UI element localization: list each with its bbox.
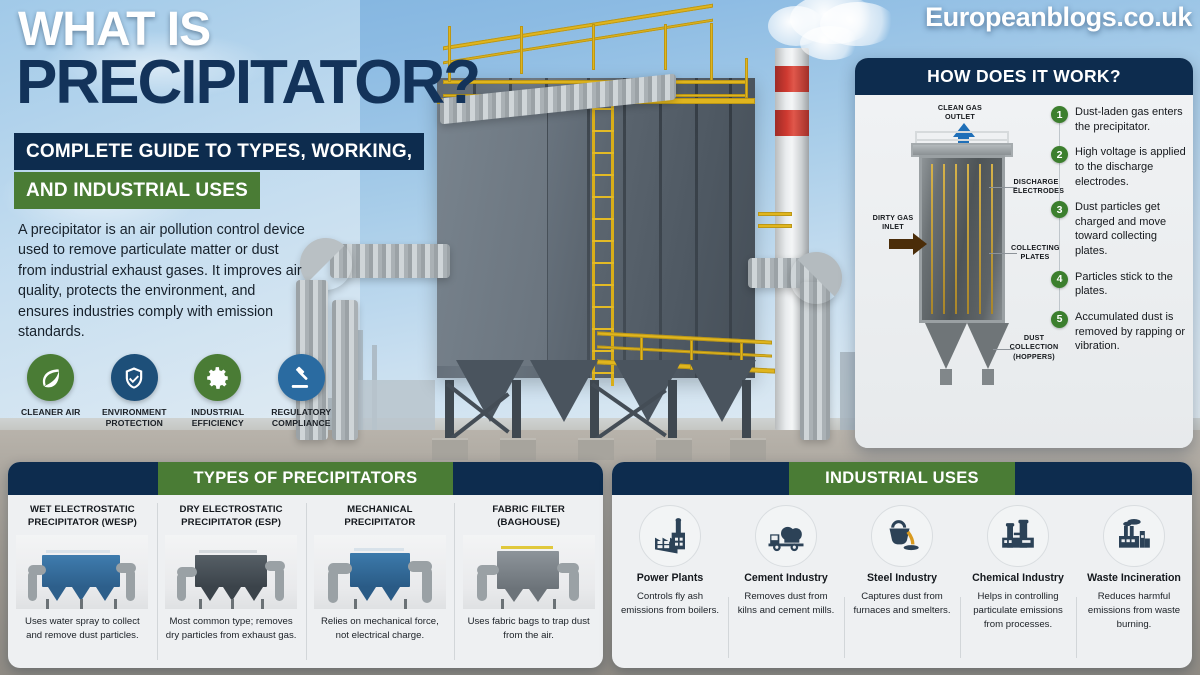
how-it-works-body: CLEAN GAS OUTLET [855, 95, 1193, 448]
gear-icon-circle [194, 354, 241, 401]
use-card-chemical-industry[interactable]: Chemical Industry Helps in controlling p… [960, 501, 1076, 668]
use-name: Waste Incineration [1087, 572, 1181, 584]
molten-ladle-icon [882, 516, 922, 556]
roof-handrail-post [710, 23, 713, 81]
gear-icon [205, 365, 231, 391]
unit-leg [114, 599, 117, 609]
page-title-line1: WHAT IS [18, 6, 210, 54]
ladder-rung [592, 174, 614, 176]
collection-hopper [530, 360, 598, 422]
how-it-works-step-list: 1 Dust-laden gas enters the precipitator… [1051, 105, 1191, 365]
unit-leg [199, 599, 202, 609]
incinerator-icon-circle [1103, 505, 1165, 567]
gavel-icon [288, 365, 314, 391]
ladder-rung [592, 240, 614, 242]
use-name: Chemical Industry [972, 572, 1064, 584]
esp-cutaway-diagram: CLEAN GAS OUTLET [867, 101, 1052, 431]
types-panel-heading: TYPES OF PRECIPITATORS [158, 462, 454, 495]
discharge-electrode [955, 164, 957, 314]
step-number-badge: 3 [1051, 201, 1068, 218]
subtitle-green-bar: AND INDUSTRIAL USES [14, 172, 260, 209]
benefit-label: INDUSTRIAL EFFICIENCY [183, 407, 253, 428]
unit-roof-rail [354, 548, 404, 551]
use-description: Reduces harmful emissions from waste bur… [1082, 590, 1186, 632]
step-connector-line [1059, 123, 1060, 146]
type-title: FABRIC FILTER (BAGHOUSE) [462, 504, 595, 530]
types-row: WET ELECTROSTATIC PRECIPITATOR (WESP) Us… [8, 495, 603, 668]
ladder-rung [592, 218, 614, 220]
factory-icon [650, 516, 690, 556]
unit-hopper [382, 587, 400, 601]
dust-hopper [925, 323, 967, 369]
concrete-footing [578, 438, 614, 460]
unit-leg [354, 599, 357, 609]
unit-duct [126, 569, 135, 601]
shield-check-icon [121, 365, 147, 391]
type-title: MECHANICAL PRECIPITATOR [314, 504, 447, 530]
unit-leg [46, 599, 49, 609]
leaf-icon-circle [27, 354, 74, 401]
housing-rib [587, 78, 590, 378]
unit-duct [28, 571, 37, 601]
dust-hopper [967, 323, 1009, 369]
type-description: Relies on mechanical force, not electric… [314, 615, 447, 642]
unit-leg [553, 599, 556, 609]
mechanical-precipitator-photo [314, 535, 446, 609]
unit-hopper [201, 587, 219, 601]
type-description: Uses water spray to collect and remove d… [16, 615, 149, 642]
types-panel-header: TYPES OF PRECIPITATORS [8, 462, 603, 495]
concrete-footing [500, 438, 536, 460]
roof-handrail-post [592, 24, 595, 70]
roof-handrail-post [745, 58, 748, 98]
discharge-electrode [967, 164, 969, 314]
ladder-rung [592, 306, 614, 308]
type-card-baghouse[interactable]: FABRIC FILTER (BAGHOUSE) Uses fabric bag… [454, 495, 603, 668]
access-ladder [592, 96, 614, 386]
step-text: Accumulated dust is removed by rapping o… [1075, 310, 1191, 354]
unit-body [497, 551, 559, 589]
concrete-footing [656, 438, 692, 460]
benefit-item-industrial-efficiency[interactable]: INDUSTRIAL EFFICIENCY [183, 354, 253, 428]
step-connector-line [1059, 163, 1060, 201]
unit-leg [231, 599, 234, 609]
stack-red-band [775, 66, 809, 92]
unit-hopper [529, 589, 547, 602]
step-connector-line [1059, 218, 1060, 271]
benefit-item-cleaner-air[interactable]: CLEANER AIR [16, 354, 86, 428]
baghouse-photo [463, 535, 595, 609]
how-it-works-card: HOW DOES IT WORK? CLEAN GAS OUTLET [855, 58, 1193, 448]
roof-handrail-post [664, 24, 667, 70]
chemical-plant-icon [998, 516, 1038, 556]
step-item: 3 Dust particles get charged and move to… [1051, 200, 1191, 259]
concrete-footing [730, 438, 766, 460]
how-it-works-heading: HOW DOES IT WORK? [855, 58, 1193, 95]
benefit-label: CLEANER AIR [16, 407, 86, 418]
unit-hopper [358, 587, 376, 601]
use-name: Power Plants [637, 572, 704, 584]
ladder-rung [592, 130, 614, 132]
molten-ladle-icon-circle [871, 505, 933, 567]
type-title: WET ELECTROSTATIC PRECIPITATOR (WESP) [16, 504, 149, 530]
site-brand-logo: Europeanblogs.co.uk [925, 2, 1192, 33]
use-card-cement-industry[interactable]: Cement Industry Removes dust from kilns … [728, 501, 844, 668]
step-number-badge: 4 [1051, 271, 1068, 288]
ladder-rung [592, 108, 614, 110]
unit-roof-rail [501, 546, 553, 549]
unit-hopper [48, 587, 66, 601]
use-card-waste-incineration[interactable]: Waste Incineration Reduces harmful emiss… [1076, 501, 1192, 668]
unit-duct [569, 569, 579, 601]
cement-mixer-truck-icon [766, 516, 806, 556]
use-name: Cement Industry [744, 572, 828, 584]
step-text: Dust-laden gas enters the precipitator. [1075, 105, 1191, 134]
cement-mixer-truck-icon-circle [755, 505, 817, 567]
unit-body [350, 553, 410, 587]
housing-rib [729, 78, 732, 378]
housing-rib [695, 78, 698, 378]
benefit-item-regulatory-compliance[interactable]: REGULATORY COMPLIANCE [267, 354, 337, 428]
unit-leg [404, 599, 407, 609]
type-description: Uses fabric bags to trap dust from the a… [462, 615, 595, 642]
use-description: Helps in controlling particulate emissio… [966, 590, 1070, 632]
unit-duct [477, 571, 487, 601]
step-item: 5 Accumulated dust is removed by rapping… [1051, 310, 1191, 354]
dirty-gas-arrow-icon [913, 233, 927, 255]
benefit-label: ENVIRONMENT PROTECTION [100, 407, 170, 428]
unit-leg [80, 599, 83, 609]
benefit-item-environment-protection[interactable]: ENVIRONMENT PROTECTION [100, 354, 170, 428]
concrete-footing [432, 438, 468, 460]
unit-roof-rail [199, 550, 257, 553]
uses-panel-header: INDUSTRIAL USES [612, 462, 1192, 495]
hopper-discharge-neck [982, 369, 994, 385]
unit-leg [501, 599, 504, 609]
unit-duct [422, 567, 432, 603]
step-item: 1 Dust-laden gas enters the precipitator… [1051, 105, 1191, 134]
type-card-esp[interactable]: DRY ELECTROSTATIC PRECIPITATOR (ESP) Mos… [157, 495, 306, 668]
industrial-uses-panel: INDUSTRIAL USES [612, 462, 1192, 668]
subtitle-navy-bar: COMPLETE GUIDE TO TYPES, WORKING, [14, 133, 424, 170]
use-description: Captures dust from furnaces and smelters… [850, 590, 954, 618]
support-column [668, 380, 677, 442]
use-name: Steel Industry [867, 572, 937, 584]
dirty-gas-inlet-label: DIRTY GAS INLET [867, 213, 919, 232]
outlet-duct-elbow [790, 252, 842, 304]
step-number-badge: 1 [1051, 106, 1068, 123]
incinerator-icon [1114, 516, 1154, 556]
hopper-discharge-neck [940, 369, 952, 385]
dirty-gas-arrow-stem [889, 239, 915, 249]
use-card-steel-industry[interactable]: Steel Industry Captures dust from furnac… [844, 501, 960, 668]
esp-photo [165, 535, 297, 609]
step-text: Particles stick to the plates. [1075, 270, 1191, 299]
step-connector-line [1059, 288, 1060, 311]
unit-body [42, 555, 120, 587]
uses-panel-heading: INDUSTRIAL USES [789, 462, 1015, 495]
ladder-rung [592, 262, 614, 264]
use-description: Removes dust from kilns and cement mills… [734, 590, 838, 618]
outlet-duct-vertical [800, 282, 830, 440]
housing-rib [659, 78, 662, 378]
benefit-icon-row: CLEANER AIR ENVIRONMENT PROTECTION INDUS… [16, 354, 336, 428]
clean-gas-outlet-label: CLEAN GAS OUTLET [925, 103, 995, 122]
types-of-precipitators-panel: TYPES OF PRECIPITATORS WET ELECTROSTATIC… [8, 462, 603, 668]
ladder-rung [592, 284, 614, 286]
housing-left-face [437, 104, 547, 366]
smoke-plume [800, 26, 860, 60]
support-column [742, 380, 751, 442]
ladder-rung [592, 328, 614, 330]
upper-side-platform [758, 224, 792, 228]
wesp-photo [16, 535, 148, 609]
gavel-icon-circle [278, 354, 325, 401]
unit-leg [261, 599, 264, 609]
support-column [512, 380, 521, 442]
unit-duct [328, 569, 338, 603]
chemical-plant-icon-circle [987, 505, 1049, 567]
use-description: Controls fly ash emissions from boilers. [618, 590, 722, 618]
stack-red-band [775, 110, 809, 136]
ladder-rung [592, 196, 614, 198]
unit-hopper [505, 589, 523, 602]
step-number-badge: 2 [1051, 146, 1068, 163]
unit-body [195, 555, 267, 587]
page-title-line2: PRECIPITATOR? [16, 52, 479, 114]
step-item: 2 High voltage is applied to the dischar… [1051, 145, 1191, 189]
discharge-electrode [931, 164, 933, 314]
upper-side-platform [758, 212, 792, 216]
benefit-label: REGULATORY COMPLIANCE [267, 407, 337, 428]
step-text: Dust particles get charged and move towa… [1075, 200, 1191, 259]
type-card-mechanical[interactable]: MECHANICAL PRECIPITATOR Relies on mechan… [306, 495, 455, 668]
step-item: 4 Particles stick to the plates. [1051, 270, 1191, 299]
type-description: Most common type; removes dry particles … [165, 615, 298, 642]
factory-icon-circle [639, 505, 701, 567]
unit-roof-rail [46, 550, 110, 553]
ladder-rung [592, 350, 614, 352]
unit-duct [275, 567, 284, 601]
ladder-rung [592, 152, 614, 154]
shield-check-icon-circle [111, 354, 158, 401]
uses-row: Power Plants Controls fly ash emissions … [612, 495, 1192, 668]
type-card-wesp[interactable]: WET ELECTROSTATIC PRECIPITATOR (WESP) Us… [8, 495, 157, 668]
step-number-badge: 5 [1051, 311, 1068, 328]
type-title: DRY ELECTROSTATIC PRECIPITATOR (ESP) [165, 504, 298, 530]
esp-chamber-shell [919, 155, 1005, 323]
step-text: High voltage is applied to the discharge… [1075, 145, 1191, 189]
unit-duct [177, 573, 186, 601]
unit-hopper [96, 587, 114, 601]
leaf-icon [38, 365, 64, 391]
use-card-power-plants[interactable]: Power Plants Controls fly ash emissions … [612, 501, 728, 668]
infographic-canvas: Europeanblogs.co.uk WHAT IS PRECIPITATOR… [0, 0, 1200, 675]
intro-paragraph: A precipitator is an air pollution contr… [18, 220, 308, 343]
discharge-electrode [979, 164, 981, 314]
discharge-electrode [943, 164, 945, 314]
roof-handrail-post [520, 26, 523, 74]
